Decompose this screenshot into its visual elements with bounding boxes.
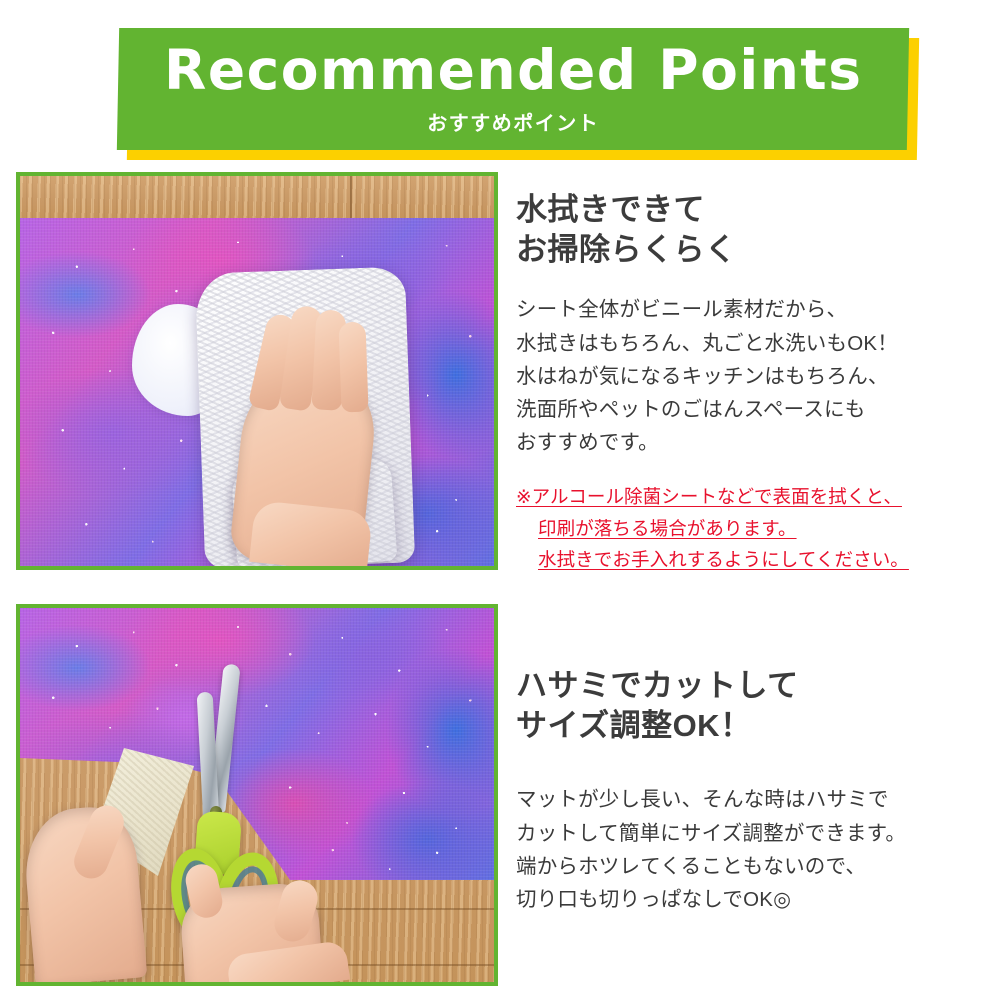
section-water-wipe: 水拭きできて お掃除らくらく シート全体がビニール素材だから、 水拭きはもちろん… — [0, 172, 1000, 572]
section-2-body-line-3: 端からホツレてくることもないので、 — [516, 850, 996, 883]
section-1-body-line-2: 水拭きはもちろん、丸ごと水洗いもOK！ — [516, 327, 996, 360]
section-1-heading-line-2: お掃除らくらく — [516, 230, 996, 270]
section-1-body-line-3: 水はねが気になるキッチンはもちろん、 — [516, 360, 996, 393]
banner-text-group: Recommended Points おすすめポイント — [164, 43, 862, 136]
section-cut-with-scissors: ハサミでカットして サイズ調整OK！ マットが少し長い、そんな時はハサミで カッ… — [0, 604, 1000, 986]
section-2-body-line-2: カットして簡単にサイズ調整ができます。 — [516, 817, 996, 850]
photo-cutting-mat-with-scissors — [16, 604, 498, 986]
caution-line-3: 水拭きでお手入れするようにしてください。 — [516, 544, 996, 575]
page-title: Recommended Points — [164, 43, 862, 98]
section-2-heading: ハサミでカットして サイズ調整OK！ — [516, 666, 996, 745]
section-1-body: シート全体がビニール素材だから、 水拭きはもちろん、丸ごと水洗いもOK！ 水はね… — [516, 293, 996, 459]
section-2-body: マットが少し長い、そんな時はハサミで カットして簡単にサイズ調整ができます。 端… — [516, 783, 996, 916]
section-1-body-line-5: おすすめです。 — [516, 426, 996, 459]
section-2-body-line-1: マットが少し長い、そんな時はハサミで — [516, 783, 996, 816]
section-1-heading-line-1: 水拭きできて — [516, 190, 996, 230]
banner-green-plate: Recommended Points おすすめポイント — [117, 28, 909, 150]
caution-line-1: ※アルコール除菌シートなどで表面を拭くと、 — [516, 481, 996, 512]
section-1-heading: 水拭きできて お掃除らくらく — [516, 190, 996, 269]
plank-seam-vertical — [350, 176, 352, 220]
caution-line-2: 印刷が落ちる場合があります。 — [516, 513, 996, 544]
section-2-body-line-4: 切り口も切りっぱなしでOK◎ — [516, 883, 996, 916]
header-banner: Recommended Points おすすめポイント — [0, 0, 1000, 170]
photo-1-scene — [20, 176, 494, 566]
section-2-text-column: ハサミでカットして サイズ調整OK！ マットが少し長い、そんな時はハサミで カッ… — [516, 666, 996, 916]
section-2-heading-line-2: サイズ調整OK！ — [516, 706, 996, 746]
section-1-text-column: 水拭きできて お掃除らくらく シート全体がビニール素材だから、 水拭きはもちろん… — [516, 190, 996, 576]
photo-2-scene — [20, 608, 494, 982]
section-1-body-line-1: シート全体がビニール素材だから、 — [516, 293, 996, 326]
section-1-caution-note: ※アルコール除菌シートなどで表面を拭くと、 印刷が落ちる場合があります。 水拭き… — [516, 481, 996, 575]
section-1-body-line-4: 洗面所やペットのごはんスペースにも — [516, 393, 996, 426]
photo-hand-wiping-mat-with-towel — [16, 172, 498, 570]
hand-finger-4 — [338, 322, 368, 413]
wood-floor-top — [20, 176, 494, 220]
section-2-heading-line-1: ハサミでカットして — [516, 666, 996, 706]
page-subtitle: おすすめポイント — [164, 107, 862, 136]
